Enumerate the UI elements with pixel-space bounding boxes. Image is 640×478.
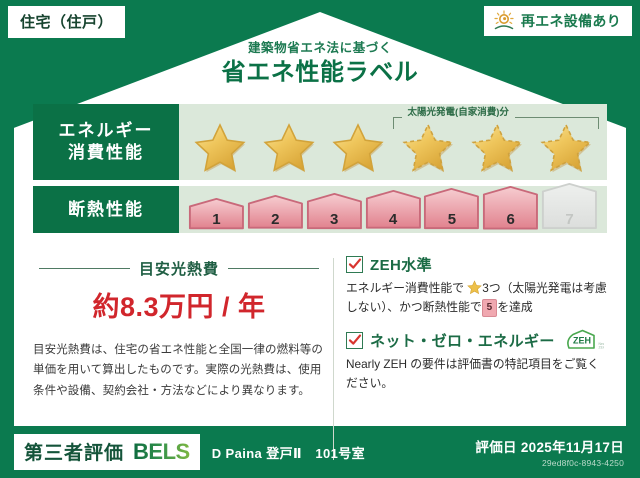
heading-title: 省エネ性能ラベル — [0, 59, 640, 87]
insulation-level-box: 5 — [423, 185, 480, 230]
cost-rule-left — [39, 268, 130, 269]
utility-cost-amount: 約8.3万円 / 年 — [33, 285, 325, 324]
insulation-level-number: 5 — [423, 211, 480, 228]
energy-performance-row: エネルギー 消費性能 太陽光発電(自家消費)分 — [33, 104, 607, 180]
insulation-performance-label: 断熱性能 — [33, 186, 179, 233]
label-heading: 建築物省エネ法に基づく 省エネ性能ラベル — [0, 42, 640, 86]
star-solar-icon — [469, 122, 525, 176]
star-filled-icon — [192, 122, 248, 176]
insulation-level-box: 3 — [306, 190, 363, 230]
net-zero-energy-checkbox[interactable] — [346, 332, 363, 349]
insulation-level-number: 2 — [247, 211, 304, 228]
solar-note-label: 太陽光発電(自家消費)分 — [402, 104, 515, 118]
insulation-level-number: 3 — [306, 211, 363, 228]
utility-cost-note: 目安光熱費は、住宅の省エネ性能と全国一律の燃料等の単価を用いて算出したものです。… — [33, 340, 325, 401]
renewable-energy-badge-label: 再エネ設備あり — [521, 11, 621, 31]
cost-rule-right — [228, 268, 319, 269]
evaluation-uid: 29ed8f0c-8943-4250 — [475, 458, 624, 468]
insulation-level-badge: 5 — [482, 299, 498, 317]
insulation-performance-label-text: 断熱性能 — [68, 199, 144, 221]
star-filled-icon — [330, 122, 386, 176]
heading-subtitle: 建築物省エネ法に基づく — [0, 42, 640, 56]
insulation-level-box: 7 — [541, 179, 598, 230]
utility-cost-title: 目安光熱費 — [139, 258, 219, 279]
star-filled-icon — [261, 122, 317, 176]
inline-star-icon — [467, 280, 482, 295]
solar-bracket — [393, 117, 599, 129]
star-solar-icon — [538, 122, 594, 176]
insulation-performance-row: 断熱性能 1234567 — [33, 186, 607, 233]
evaluation-info: 評価日 2025年11月17日 29ed8f0c-8943-4250 — [475, 436, 624, 468]
label-footer: 第三者評価 BELS D Paina 登戸Ⅱ 101号室 評価日 2025年11… — [0, 426, 640, 478]
insulation-level-number: 6 — [482, 211, 539, 228]
evaluation-date: 評価日 2025年11月17日 — [475, 436, 624, 456]
third-party-label: 第三者評価 — [24, 438, 124, 465]
net-zero-energy-item: ネット・ゼロ・エネルギー ZEH Nearly ZEH Nearly ZEH の… — [346, 329, 607, 393]
bels-badge: 第三者評価 BELS — [14, 434, 200, 470]
zeh-standard-title: ZEH水準 — [370, 254, 432, 275]
net-zero-energy-title: ネット・ゼロ・エネルギー — [370, 330, 555, 351]
insulation-level-box: 1 — [188, 195, 245, 230]
insulation-level-number: 1 — [188, 211, 245, 228]
energy-performance-label-line1: エネルギー — [59, 120, 154, 142]
insulation-level-number: 7 — [541, 211, 598, 228]
energy-performance-label-line2: 消費性能 — [68, 142, 144, 164]
category-badge: 住宅（住戸） — [8, 6, 125, 38]
insulation-level-box: 2 — [247, 192, 304, 230]
zeh-logo-icon: ZEH Nearly ZEH — [564, 329, 604, 351]
energy-performance-value: 太陽光発電(自家消費)分 — [179, 104, 607, 180]
check-icon — [348, 333, 362, 347]
zeh-standard-body-part1: エネルギー消費性能で — [346, 281, 464, 295]
zeh-standard-checkbox[interactable] — [346, 256, 363, 273]
zeh-standard-item: ZEH水準 エネルギー消費性能で 3つ（太陽光発電は考慮しない）、かつ断熱性能で… — [346, 254, 607, 317]
star-rating — [179, 104, 607, 180]
svg-text:ZEH: ZEH — [598, 346, 604, 350]
insulation-level-box: 4 — [365, 187, 422, 230]
building-name: D Paina 登戸Ⅱ 101号室 — [212, 443, 365, 462]
insulation-level-number: 4 — [365, 211, 422, 228]
zeh-standard-header: ZEH水準 — [346, 254, 607, 275]
energy-performance-label: エネルギー 消費性能 — [33, 104, 179, 180]
insulation-level-scale: 1234567 — [179, 186, 607, 233]
check-icon — [348, 257, 362, 271]
sun-icon — [492, 10, 516, 31]
renewable-energy-badge: 再エネ設備あり — [484, 6, 632, 36]
zeh-standard-body: エネルギー消費性能で 3つ（太陽光発電は考慮しない）、かつ断熱性能で5を達成 — [346, 279, 607, 317]
insulation-level-box: 6 — [482, 182, 539, 230]
bels-logo-text: BELS — [133, 439, 190, 465]
insulation-performance-value: 1234567 — [179, 186, 607, 233]
net-zero-energy-header: ネット・ゼロ・エネルギー ZEH Nearly ZEH — [346, 329, 607, 351]
zeh-standard-body-part3: を達成 — [497, 300, 532, 314]
net-zero-energy-body: Nearly ZEH の要件は評価書の特記項目をご覧ください。 — [346, 355, 607, 393]
rating-rows: エネルギー 消費性能 太陽光発電(自家消費)分 断熱性能 1234567 — [33, 104, 607, 239]
svg-text:ZEH: ZEH — [573, 336, 591, 346]
star-solar-icon — [400, 122, 456, 176]
bels-energy-label: 住宅（住戸） 再エネ設備あり 建築物省エネ法に基づく 省エネ性能ラベル — [0, 0, 640, 478]
utility-cost-heading: 目安光熱費 — [33, 254, 325, 279]
category-badge-label: 住宅（住戸） — [20, 11, 113, 32]
